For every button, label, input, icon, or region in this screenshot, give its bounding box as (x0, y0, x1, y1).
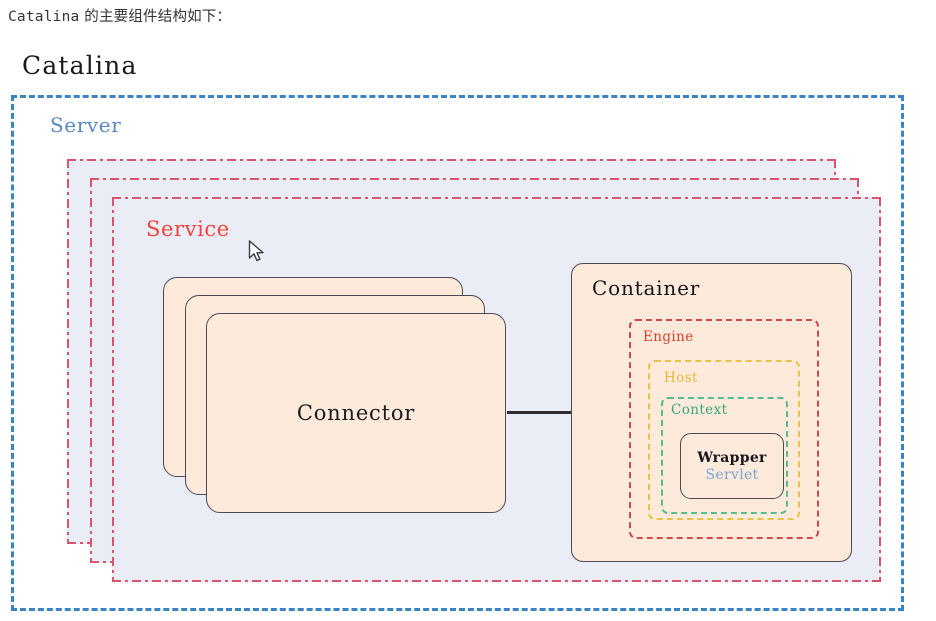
intro-text: Catalina 的主要组件结构如下： (8, 5, 231, 26)
connector-label: Connector (206, 313, 506, 513)
engine-label: Engine (643, 329, 694, 345)
service-label: Service (146, 217, 230, 241)
diagram-title: Catalina (22, 51, 138, 80)
intro-mono-text: Catalina (8, 9, 79, 25)
container-label: Container (592, 276, 700, 300)
diagram-canvas: Catalina 的主要组件结构如下： Catalina Server Serv… (0, 0, 936, 621)
wrapper-box: Wrapper Servlet (680, 433, 784, 499)
connector-container-link (507, 411, 573, 414)
wrapper-title: Wrapper (697, 450, 767, 466)
servlet-label: Servlet (706, 467, 759, 483)
intro-cjk-text: 的主要组件结构如下： (79, 9, 231, 25)
context-label: Context (671, 402, 727, 418)
host-label: Host (664, 370, 698, 386)
server-label: Server (50, 113, 121, 137)
